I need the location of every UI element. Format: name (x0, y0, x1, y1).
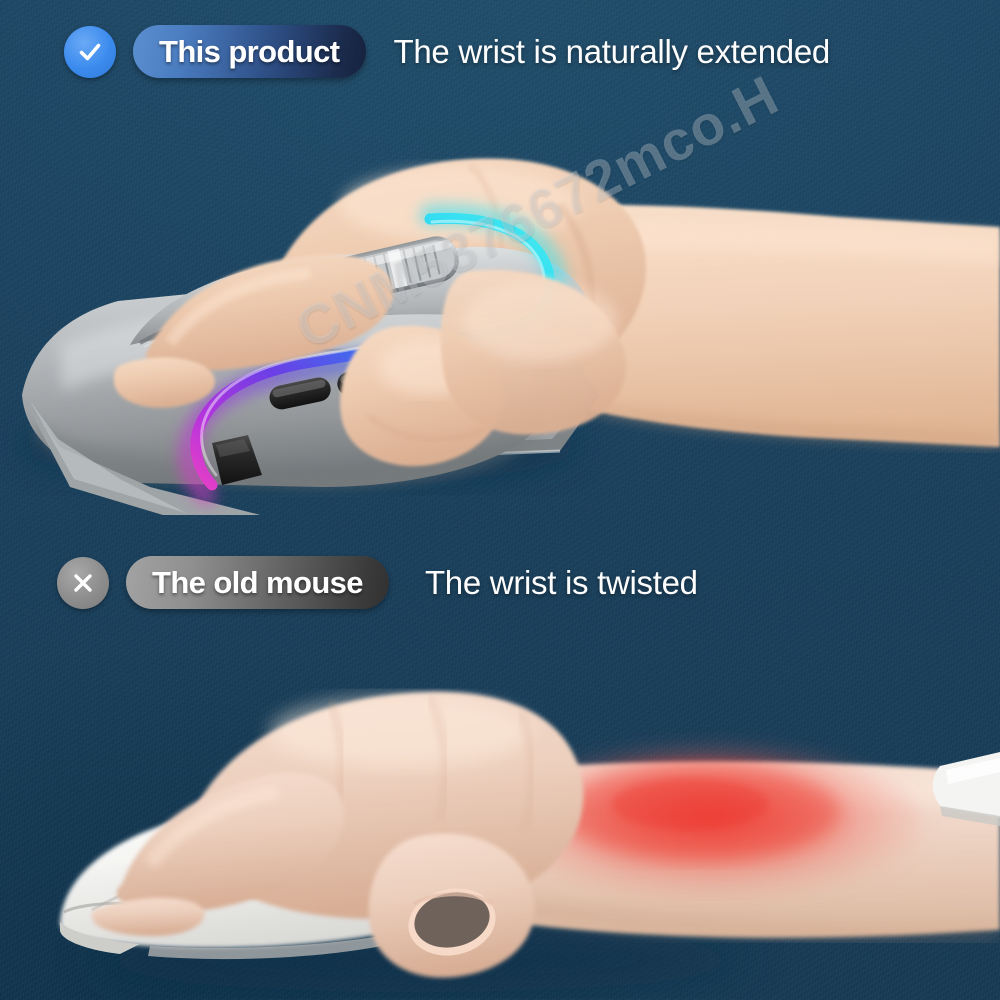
check-icon (64, 26, 116, 78)
caption-old-mouse: The wrist is twisted (425, 564, 698, 602)
caption-this-product: The wrist is naturally extended (394, 33, 830, 71)
badge-old-mouse: The old mouse (126, 556, 389, 609)
comparison-row-this-product: This product The wrist is naturally exte… (64, 25, 830, 78)
ergonomic-mouse-illustration (0, 95, 1000, 515)
badge-this-product-label: This product (159, 34, 340, 70)
page-background: CNM5376672mco.H This product The wrist i… (0, 0, 1000, 1000)
badge-this-product: This product (133, 25, 366, 78)
comparison-row-old-mouse: The old mouse The wrist is twisted (57, 556, 698, 609)
photo-old-mouse (0, 640, 1000, 1000)
badge-old-mouse-label: The old mouse (152, 565, 363, 601)
old-mouse-illustration (0, 640, 1000, 1000)
photo-this-product (0, 95, 1000, 515)
x-icon (57, 557, 109, 609)
